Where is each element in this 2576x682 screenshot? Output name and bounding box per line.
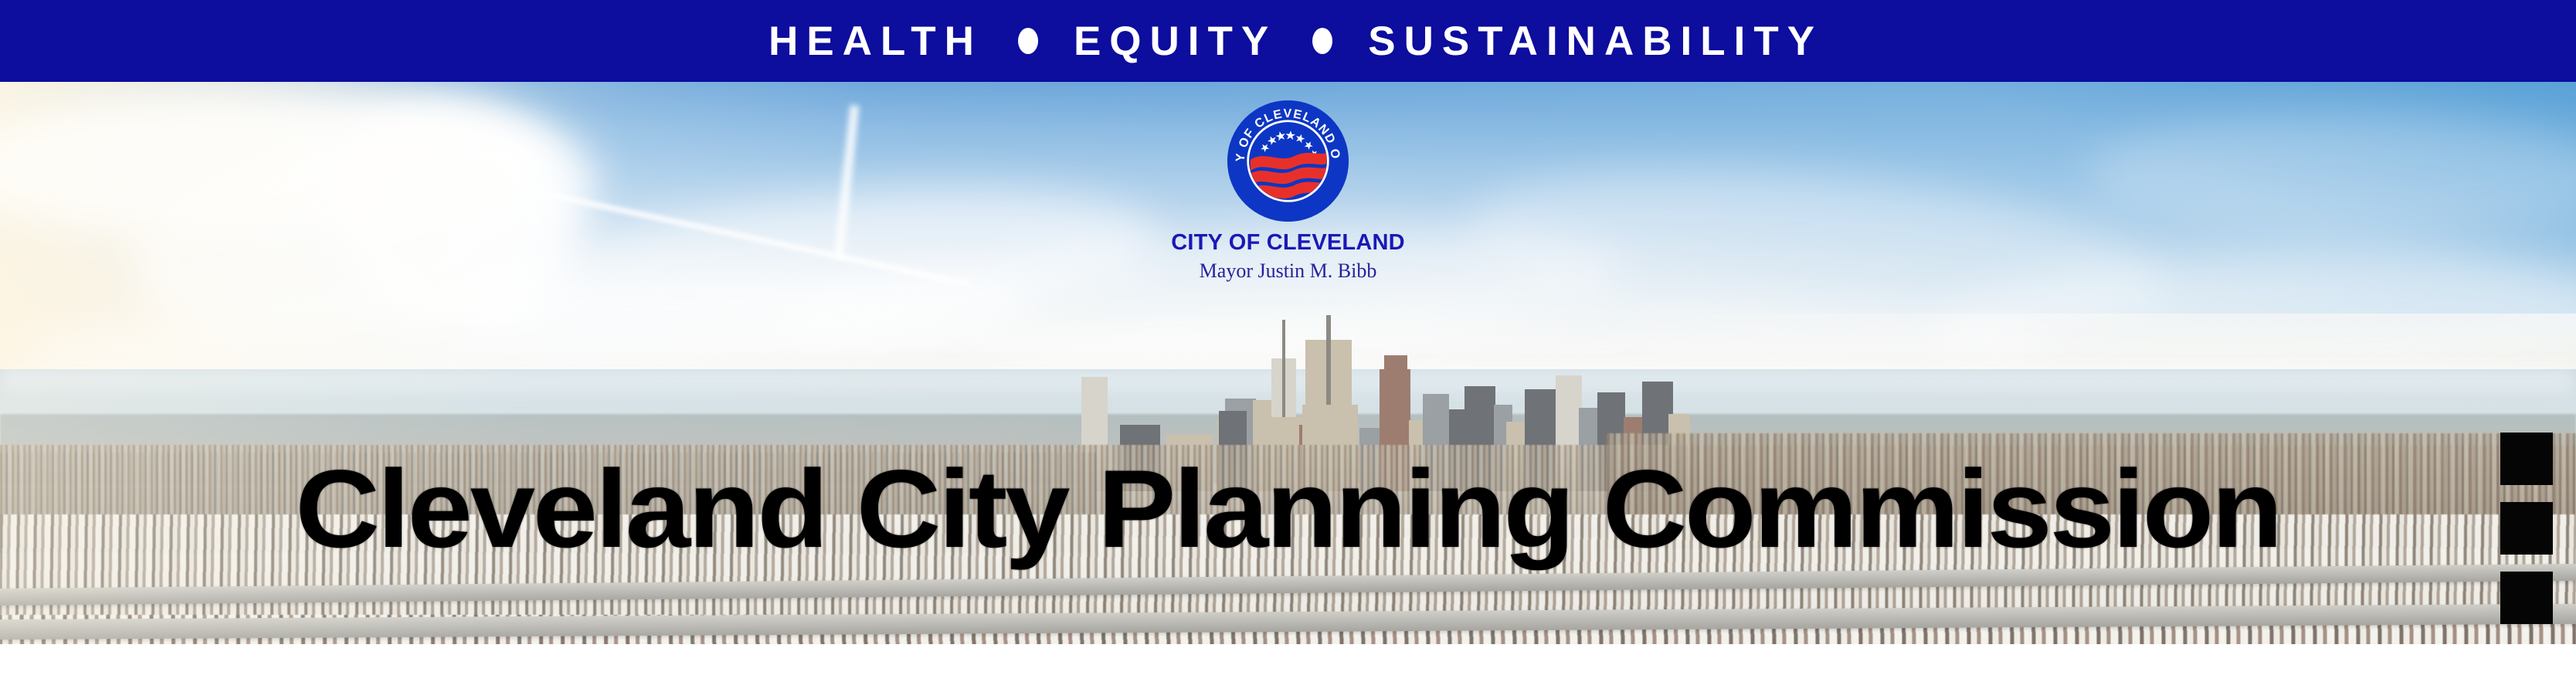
youtube-icon xyxy=(2500,433,2553,485)
cleveland-city-planning-header: HEALTH EQUITY SUSTAINABILITY xyxy=(0,0,2576,682)
dot-separator-icon xyxy=(1312,28,1332,54)
city-seal-icon: CITY OF CLEVELAND OHIO xyxy=(1227,100,1349,222)
bottom-white-strip xyxy=(0,644,2576,682)
brand-city-name: CITY OF CLEVELAND xyxy=(1171,232,1405,254)
tagline-banner: HEALTH EQUITY SUSTAINABILITY xyxy=(0,0,2576,82)
brand-block: CITY OF CLEVELAND OHIO xyxy=(0,100,2576,281)
brand-mayor-name: Mayor Justin M. Bibb xyxy=(1200,261,1377,281)
instagram-icon xyxy=(2500,502,2553,555)
tagline-word-health: HEALTH xyxy=(769,21,983,62)
dot-separator-icon xyxy=(1018,28,1038,54)
social-link-facebook[interactable] xyxy=(2500,572,2553,624)
social-link-instagram[interactable] xyxy=(2500,502,2553,555)
tagline-word-equity: EQUITY xyxy=(1074,21,1277,62)
facebook-icon xyxy=(2500,572,2553,624)
social-links xyxy=(2500,433,2553,624)
social-link-youtube[interactable] xyxy=(2500,433,2553,485)
tagline-word-sustainability: SUSTAINABILITY xyxy=(1368,21,1823,62)
